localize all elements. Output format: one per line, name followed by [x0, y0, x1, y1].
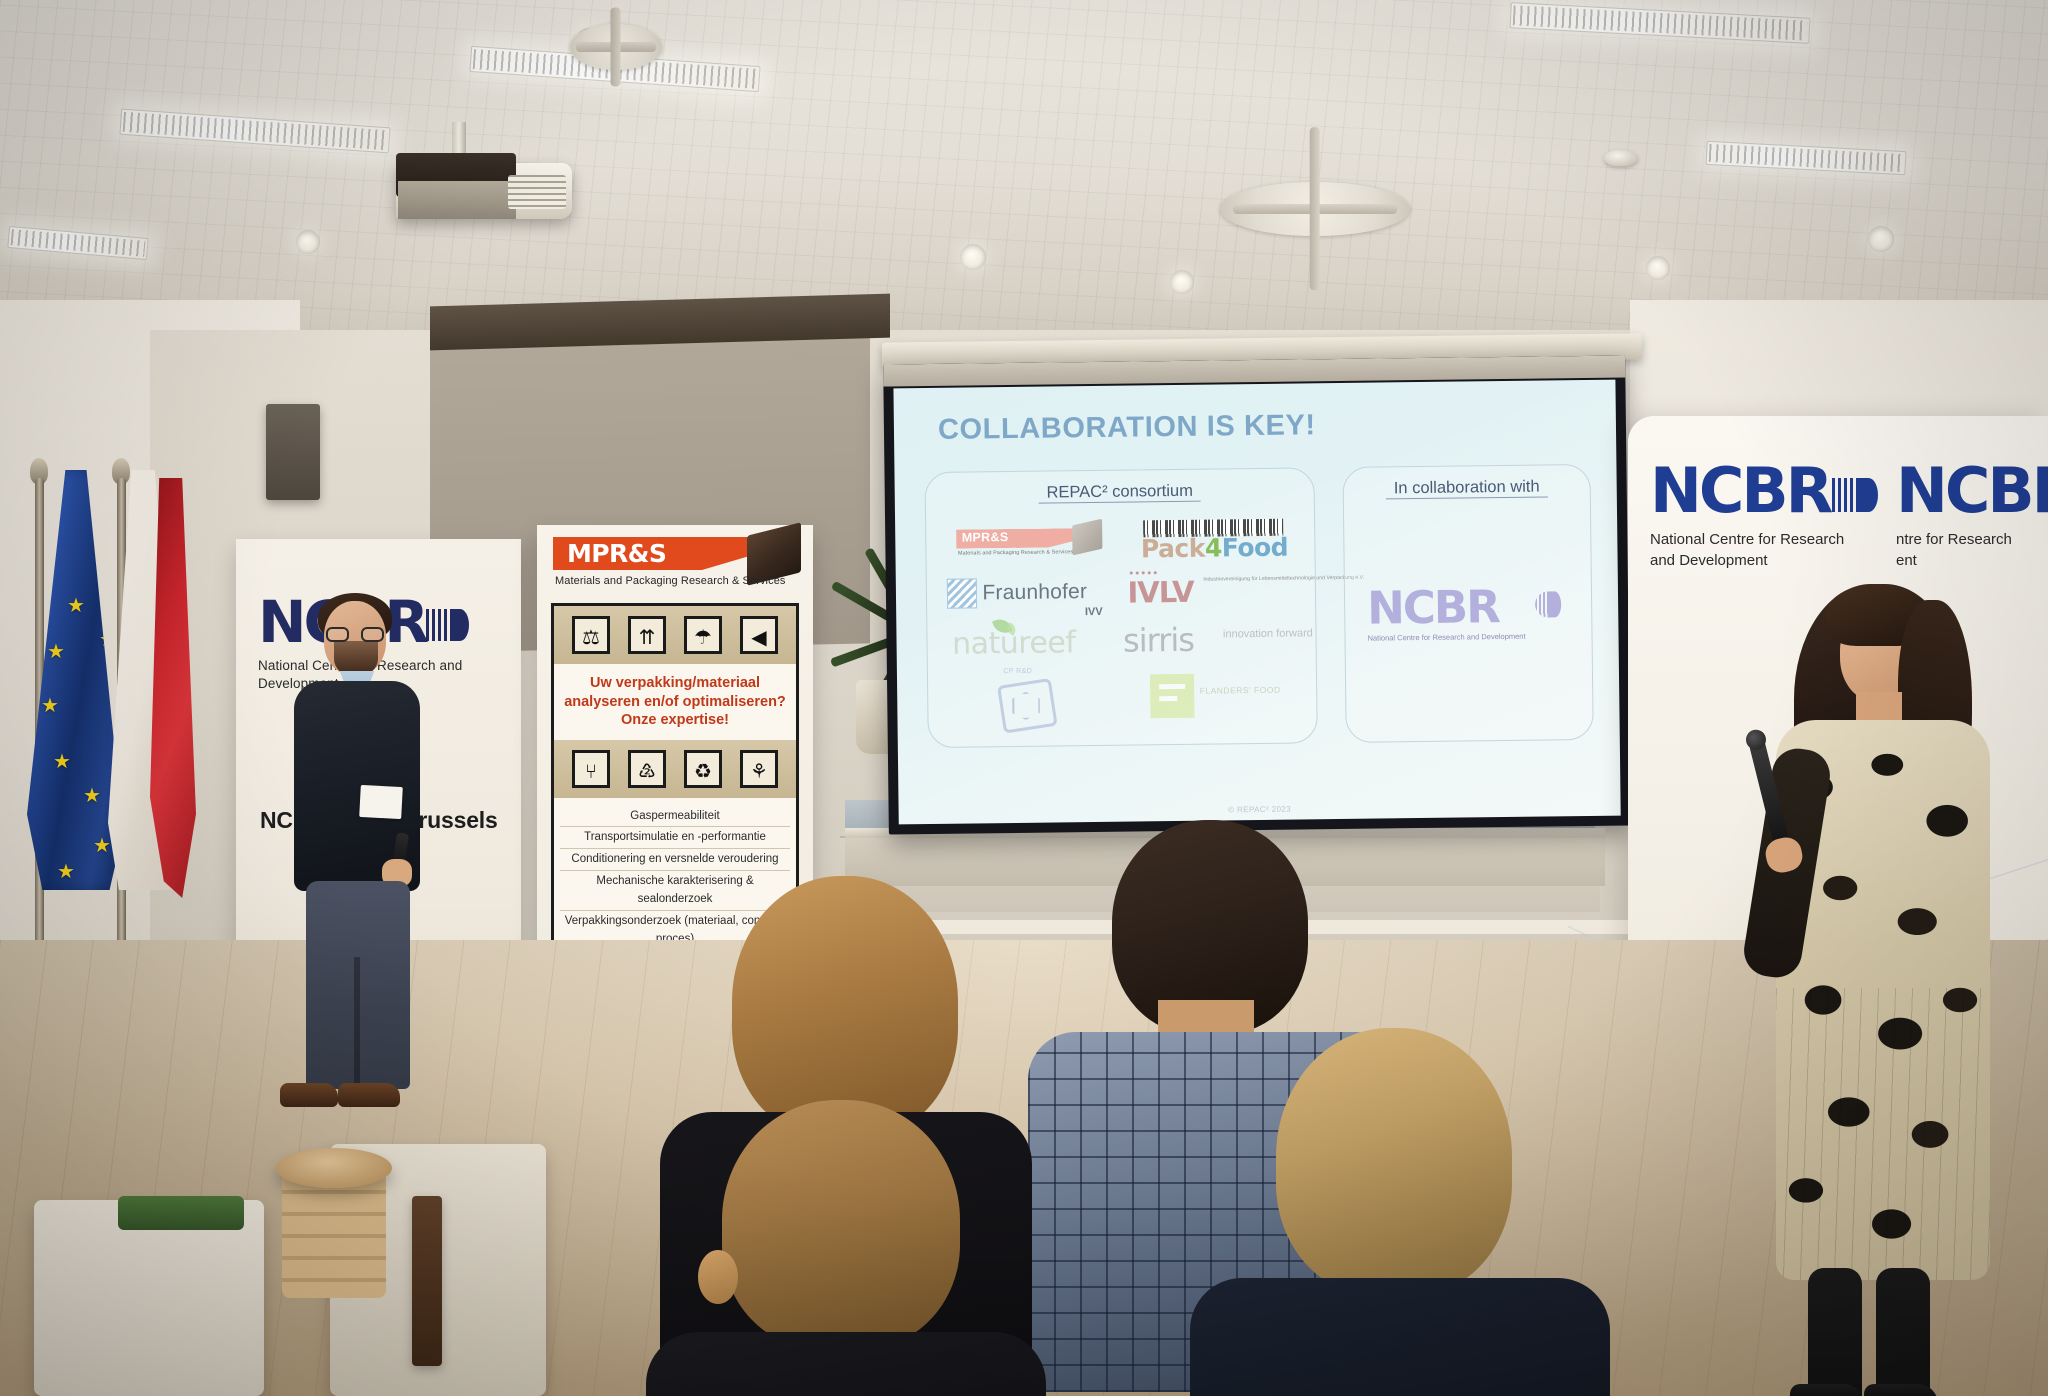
fraunhofer-mark-icon: [946, 578, 976, 608]
celabor-wordmark: CP R&D: [1003, 668, 1032, 675]
conference-room-photo: COLLABORATION IS KEY! REPAC² consortium …: [0, 0, 2048, 1396]
round-side-table: [276, 1148, 392, 1188]
packaging-icon-strip-top: ⚖ ⇈ ☂ ◀: [554, 606, 796, 664]
sirris-wordmark: sirris: [1123, 621, 1194, 660]
boot-left: [1790, 1384, 1864, 1396]
pack4food-part-4: 4: [1205, 533, 1222, 562]
ivlv-subtitle: Industrievereinigung für Lebensmitteltec…: [1203, 575, 1364, 585]
backdrop-ncbr-logo-repeat: NCBR ntre for Research ent: [1896, 462, 2048, 571]
fraunhofer-institute-code: IVV: [1085, 606, 1103, 618]
backdrop-ncbr-subtitle-repeat: ntre for Research ent: [1896, 529, 2048, 571]
logo-natureef: natureef: [952, 619, 1113, 667]
head-blonde-hair: [732, 876, 958, 1138]
ceiling-downlight: [1170, 270, 1194, 294]
backdrop-ncbr-logo: NCBR National Centre for Research and De…: [1650, 462, 1844, 571]
smoke-detector: [1604, 150, 1638, 166]
shoe-right: [338, 1083, 400, 1107]
backdrop-subtitle-line2: and Development: [1650, 550, 1844, 571]
recycling-loop-icon: ♻: [684, 750, 722, 788]
eyeglasses: [326, 627, 384, 642]
ivlv-dots-icon: [1129, 571, 1156, 574]
presentation-slide: COLLABORATION IS KEY! REPAC² consortium …: [893, 380, 1620, 825]
projection-screen: COLLABORATION IS KEY! REPAC² consortium …: [883, 355, 1631, 834]
torso: [646, 1332, 1046, 1396]
mprs-service-item: Gaspermeabiliteit: [560, 806, 790, 828]
consortium-logo-grid: MPR&S Materials and Packaging Research &…: [940, 514, 1305, 734]
keep-dry-umbrella-icon: ☂: [684, 616, 722, 654]
mprs-service-item: Transportsimulatie en -performantie: [560, 827, 790, 849]
wall-speaker: [266, 404, 320, 500]
trousers: [306, 881, 410, 1089]
audience-chair: [412, 1196, 562, 1396]
backdrop-subtitle-repeat-line1: ntre for Research: [1896, 529, 2048, 550]
fraunhofer-wordmark: Fraunhofer: [982, 580, 1087, 605]
backdrop-subtitle-line1: National Centre for Research: [1650, 529, 1844, 550]
ceiling-air-diffuser: [570, 24, 662, 70]
green-seat-cushion: [118, 1196, 244, 1230]
mprs-subtitle: Materials and Packaging Research & Servi…: [958, 549, 1073, 556]
fragile-handling-icon: ⚖: [572, 616, 610, 654]
sirris-tagline: innovation forward: [1223, 627, 1313, 641]
mprs-banner-wordmark: MPR&S: [567, 539, 666, 568]
ceiling-projector: [396, 163, 572, 219]
natureef-wordmark: natureef: [952, 625, 1076, 662]
audience-member-2: [676, 1100, 1006, 1396]
logo-sirris: sirris innovation forward: [1123, 617, 1304, 663]
leg-right: [1876, 1268, 1930, 1396]
presenter-woman-right: [1760, 588, 2010, 1396]
logo-pack4food: Pack4Food: [1137, 519, 1288, 563]
ear: [698, 1250, 738, 1304]
leg-left: [1808, 1268, 1862, 1396]
presenter-man-left: [286, 601, 436, 1121]
tear-open-icon: ◀: [740, 616, 778, 654]
repac-consortium-caption: REPAC² consortium: [1038, 482, 1201, 504]
logo-celabor: CP R&D: [987, 667, 1078, 734]
ldpe-recycle-4-icon: ♴: [628, 750, 666, 788]
this-way-up-icon: ⇈: [628, 616, 666, 654]
compostable-seedling-icon: ⚘: [740, 750, 778, 788]
logo-fraunhofer: Fraunhofer IVV: [946, 569, 1117, 617]
shoe-left: [280, 1083, 338, 1107]
pack4food-part-pack: Pack: [1141, 534, 1205, 564]
backdrop-ncbr-wordmark: NCBR: [1650, 462, 1844, 521]
ceiling-downlight: [960, 244, 986, 270]
mprs-wordmark: MPR&S: [962, 530, 1009, 545]
ceiling-downlight: [1868, 226, 1894, 252]
logo-flanders-food: FLANDERS' FOOD: [1143, 669, 1284, 729]
backdrop-ncbr-wordmark-repeat: NCBR: [1896, 462, 2048, 521]
ncbr-dot-icon: [1535, 591, 1561, 617]
collaboration-panel: In collaboration with NCBR National Cent…: [1342, 464, 1593, 743]
packaging-icon-strip-bottom: ⑂ ♴ ♻ ⚘: [554, 740, 796, 798]
boot-right: [1864, 1384, 1938, 1396]
dress-pleats: [1776, 988, 1990, 1280]
logo-ivlv: IVLV Industrievereinigung für Lebensmitt…: [1127, 568, 1298, 614]
mprs-claim-text: Uw verpakking/materiaal analyseren en/of…: [554, 664, 796, 740]
ncbr-dot-icon: [1832, 478, 1868, 512]
head: [722, 1100, 960, 1350]
mprs-cube-icon: [1072, 519, 1102, 556]
ncbr-slide-subtitle: National Centre for Research and Develop…: [1367, 630, 1567, 644]
slide-title: COLLABORATION IS KEY!: [938, 409, 1316, 447]
mprs-banner-header: MPR&S Materials and Packaging Research &…: [537, 525, 813, 599]
stacked-wooden-stools: [282, 1172, 386, 1298]
repac-consortium-panel: REPAC² consortium MPR&S Materials and Pa…: [924, 467, 1317, 748]
mprs-banner-subtitle: Materials and Packaging Research & Servi…: [555, 575, 786, 587]
pack4food-part-food: Food: [1222, 533, 1289, 563]
head-blonde-hair: [1276, 1028, 1512, 1296]
torso: [1190, 1278, 1610, 1396]
audience-member-4: [1216, 1028, 1576, 1396]
ceiling-downlight: [296, 230, 320, 254]
mprs-service-item: Conditionering en versnelde veroudering: [560, 849, 790, 871]
flanders-food-square-icon: [1149, 674, 1194, 719]
food-safe-glass-fork-icon: ⑂: [572, 750, 610, 788]
collaboration-caption: In collaboration with: [1386, 477, 1548, 499]
ceiling-downlight: [1646, 256, 1670, 280]
ceiling-air-diffuser: [1220, 182, 1410, 236]
backdrop-subtitle-repeat-line2: ent: [1896, 550, 2048, 571]
ivlv-wordmark: IVLV: [1127, 575, 1194, 610]
logo-mprs: MPR&S Materials and Packaging Research &…: [956, 522, 1106, 564]
slide-copyright: © REPAC² 2023: [1228, 805, 1291, 815]
logo-ncbr-slide: NCBR National Centre for Research and De…: [1367, 583, 1568, 649]
flanders-food-wordmark: FLANDERS' FOOD: [1200, 685, 1281, 697]
name-badge: [359, 785, 403, 819]
backdrop-ncbr-subtitle: National Centre for Research and Develop…: [1650, 529, 1844, 571]
